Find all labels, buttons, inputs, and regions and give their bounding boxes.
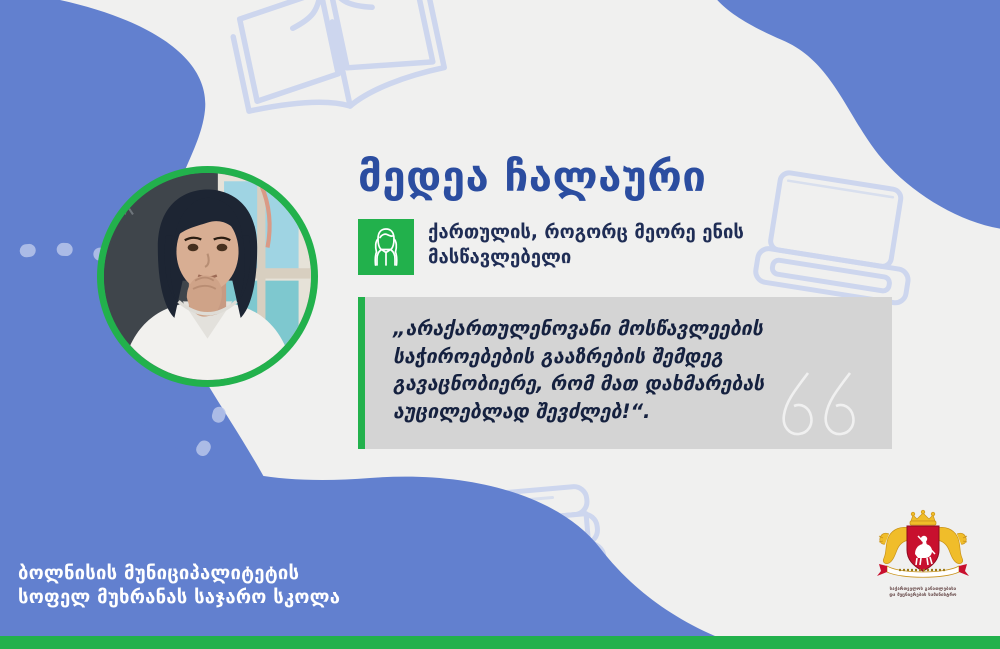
ministry-emblem: საქართველოს განათლებისა და მეცნიერების ს… [862, 508, 984, 608]
quote-card: „არაქართულენოვანი მოსწავლეების საჭიროებე… [358, 297, 892, 449]
page-title: მედეა ჩალაური [358, 156, 706, 198]
portrait-avatar [97, 166, 318, 387]
portrait-artwork [104, 173, 311, 380]
quote-text: „არაქართულენოვანი მოსწავლეების საჭიროებე… [393, 315, 813, 426]
emblem-caption: საქართველოს განათლებისა და მეცნიერების ს… [862, 586, 984, 599]
poster-canvas: მედეა ჩალაური ქართულის, როგორც მეორე ენი… [0, 0, 1000, 649]
quotation-mark-icon [778, 371, 870, 437]
school-name: ბოლნისის მუნიციპალიტეტის სოფელ მუხრანას … [18, 562, 340, 611]
bottom-green-bar [0, 636, 1000, 649]
role-row: ქართულის, როგორც მეორე ენის მასწავლებელი [358, 219, 758, 275]
role-label: ქართულის, როგორც მეორე ენის მასწავლებელი [428, 219, 758, 271]
portrait-image [104, 173, 311, 380]
georgia-coat-of-arms-icon [871, 508, 975, 584]
teacher-person-icon [358, 219, 414, 275]
